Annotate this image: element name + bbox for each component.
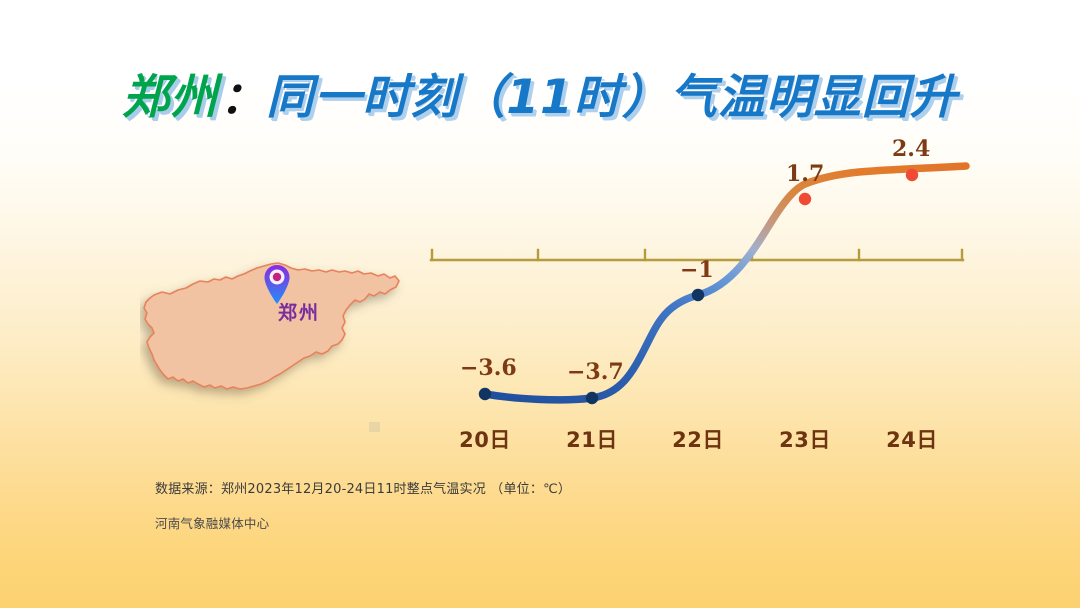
title-headline-text: 同一时刻（11时）气温明显回升 [266, 70, 957, 125]
data-value-label: 1.7 [786, 161, 824, 187]
x-axis-label-day-23: 23日 [760, 424, 850, 454]
title-colon: ： [218, 73, 266, 124]
x-axis-label-day-20: 20日 [440, 424, 530, 454]
data-source-note: 数据来源：郑州2023年12月20-24日11时整点气温实况 （单位：℃） [155, 478, 571, 497]
x-axis-label-day-22: 22日 [653, 424, 743, 454]
watermark-mark [362, 418, 388, 440]
page-title: 郑州：同一时刻（11时）气温明显回升 [0, 62, 1080, 128]
data-point-marker [692, 289, 704, 301]
map-city-label: 郑州 [244, 298, 354, 325]
temperature-line-chart: −3.6 −3.7 −1 1.7 2.4 20日 21日 22日 23日 24日 [414, 140, 994, 460]
data-point-marker [906, 169, 918, 181]
temperature-line [485, 166, 966, 400]
chart-plot-svg [414, 140, 994, 460]
data-point-marker [479, 388, 491, 400]
x-axis-label-day-24: 24日 [867, 424, 957, 454]
henan-map: 郑州 [140, 248, 420, 418]
x-axis-label-day-21: 21日 [547, 424, 637, 454]
data-point-marker [799, 193, 811, 205]
data-value-label: −1 [680, 257, 714, 283]
data-point-marker [586, 392, 598, 404]
map-shape-svg [140, 248, 420, 418]
infographic-root: 郑州：同一时刻（11时）气温明显回升 [0, 0, 1080, 608]
title-city-text: 郑州 [122, 70, 218, 125]
publisher-note: 河南气象融媒体中心 [155, 513, 269, 532]
data-value-label: −3.6 [460, 355, 517, 381]
data-value-label: 2.4 [892, 136, 930, 162]
data-value-label: −3.7 [567, 359, 624, 385]
